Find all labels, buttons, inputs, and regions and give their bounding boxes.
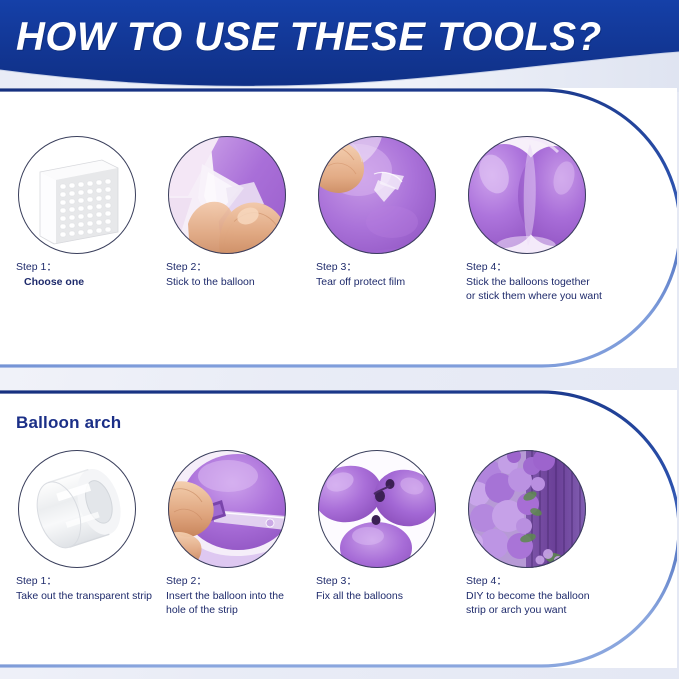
step-description: Choose one bbox=[16, 275, 171, 289]
step-figure bbox=[468, 450, 586, 568]
step-item: Step 4： Stick the balloons together or s… bbox=[466, 136, 666, 303]
step-description: Fix all the balloons bbox=[316, 589, 471, 603]
step-caption: Step 1： Choose one bbox=[16, 260, 171, 289]
step-figure bbox=[168, 450, 286, 568]
glue-dot-sheet-image bbox=[18, 136, 136, 254]
step-item: Step 3： Tear off protect film bbox=[316, 136, 471, 289]
step-label: Step 1： bbox=[16, 574, 171, 589]
page-title: HOW TO USE THESE TOOLS? bbox=[16, 14, 666, 60]
step-label: Step 3： bbox=[316, 574, 471, 589]
step-item: Step 4： DIY to become the balloon strip … bbox=[466, 450, 666, 617]
step-caption: Step 4： DIY to become the balloon strip … bbox=[466, 574, 666, 617]
step-caption: Step 3： Fix all the balloons bbox=[316, 574, 471, 603]
step-item: Step 1： Choose one bbox=[16, 136, 171, 289]
balloons-stuck-together-image bbox=[468, 136, 586, 254]
step-caption: Step 2： Stick to the balloon bbox=[166, 260, 321, 289]
section-balloon-arch-panel: Balloon arch bbox=[0, 390, 677, 668]
step-caption: Step 2： Insert the balloon into the hole… bbox=[166, 574, 321, 617]
step-caption: Step 3： Tear off protect film bbox=[316, 260, 471, 289]
step-item: Step 1： Take out the transparent strip bbox=[16, 450, 171, 603]
stick-dot-to-balloon-image bbox=[168, 136, 286, 254]
step-figure bbox=[318, 136, 436, 254]
step-figure bbox=[18, 450, 136, 568]
step-label: Step 3： bbox=[316, 260, 471, 275]
step-figure bbox=[18, 136, 136, 254]
step-figure bbox=[318, 450, 436, 568]
step-label: Step 2： bbox=[166, 260, 321, 275]
step-caption: Step 4： Stick the balloons together or s… bbox=[466, 260, 666, 303]
step-figure bbox=[168, 136, 286, 254]
step-caption: Step 1： Take out the transparent strip bbox=[16, 574, 171, 603]
step-description: Insert the balloon into the hole of the … bbox=[166, 589, 321, 617]
finished-balloon-arch-image bbox=[468, 450, 586, 568]
step-description: Take out the transparent strip bbox=[16, 589, 171, 603]
step-description: DIY to become the balloon strip or arch … bbox=[466, 589, 666, 617]
step-description: Tear off protect film bbox=[316, 275, 471, 289]
step-label: Step 1： bbox=[16, 260, 171, 275]
step-item: Step 3： Fix all the balloons bbox=[316, 450, 471, 603]
step-item: Step 2： Insert the balloon into the hole… bbox=[166, 450, 321, 617]
step-label: Step 4： bbox=[466, 260, 666, 275]
step-description: Stick to the balloon bbox=[166, 275, 321, 289]
fix-all-balloons-image bbox=[318, 450, 436, 568]
step-figure bbox=[468, 136, 586, 254]
transparent-strip-roll-image bbox=[18, 450, 136, 568]
section-heading: Balloon arch bbox=[16, 413, 121, 433]
insert-balloon-into-strip-image bbox=[168, 450, 286, 568]
step-label: Step 4： bbox=[466, 574, 666, 589]
section-glue-dots-panel: Step 1： Choose one bbox=[0, 88, 677, 368]
step-item: Step 2： Stick to the balloon bbox=[166, 136, 321, 289]
tear-off-film-image bbox=[318, 136, 436, 254]
step-label: Step 2： bbox=[166, 574, 321, 589]
step-description: Stick the balloons together or stick the… bbox=[466, 275, 666, 303]
header-banner: HOW TO USE THESE TOOLS? bbox=[0, 0, 679, 92]
